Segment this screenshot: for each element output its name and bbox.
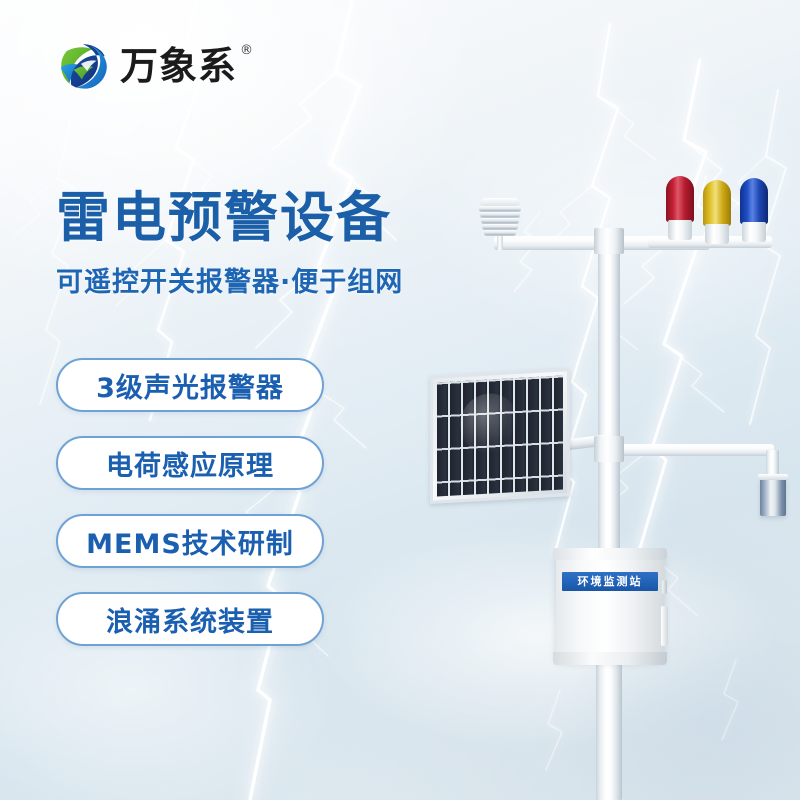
feature-pill-2: 电荷感应原理 bbox=[56, 436, 324, 490]
page-title: 雷电预警设备 bbox=[56, 190, 476, 246]
mast-collar-upper bbox=[594, 228, 624, 254]
shield-plate bbox=[479, 206, 521, 211]
alarm-beacon-yellow bbox=[703, 180, 731, 240]
mast-collar-lower bbox=[594, 436, 624, 462]
shield-plate bbox=[481, 218, 519, 223]
right-sensor-cap bbox=[758, 474, 788, 480]
upper-crossarm bbox=[494, 236, 710, 250]
headline-block: 雷电预警设备 可遥控开关报警器·便于组网 bbox=[56, 190, 476, 299]
mast-pole-lower bbox=[596, 636, 622, 800]
monitor-box-lid bbox=[553, 548, 667, 560]
sky-haze-blob bbox=[430, 90, 800, 350]
feature-list: 3级声光报警器 电荷感应原理 MEMS技术研制 浪涌系统装置 bbox=[56, 358, 324, 646]
beacon-base-blue bbox=[742, 222, 766, 242]
shield-plate bbox=[480, 212, 520, 217]
monitor-box-label: 环境监测站 bbox=[562, 572, 658, 591]
beacon-dome-red bbox=[666, 176, 694, 222]
sky-haze-blob bbox=[560, 620, 800, 800]
solar-panel-arm bbox=[560, 434, 613, 451]
feature-pill-4: 浪涌系统装置 bbox=[56, 592, 324, 646]
solar-panel-glare bbox=[460, 392, 518, 455]
solar-panel bbox=[430, 368, 570, 504]
feature-pill-label: MEMS技术研制 bbox=[86, 522, 294, 561]
monitor-box-bracket bbox=[560, 612, 616, 623]
beacon-base-red bbox=[668, 220, 692, 240]
product-poster: 环境监测站 bbox=[0, 0, 800, 800]
sky-haze-blob bbox=[300, 520, 780, 750]
beacon-dome-blue bbox=[740, 178, 768, 224]
page-subtitle: 可遥控开关报警器·便于组网 bbox=[56, 260, 476, 299]
monitor-box-latch bbox=[662, 580, 667, 594]
alarm-beacon-blue bbox=[740, 178, 768, 240]
environment-monitor-box: 环境监测站 bbox=[556, 552, 664, 660]
shield-plate bbox=[482, 224, 518, 229]
feature-pill-label: 浪涌系统装置 bbox=[106, 600, 274, 639]
brand-header: 万象系 ® bbox=[58, 40, 237, 92]
feature-pill-label: 电荷感应原理 bbox=[106, 444, 274, 483]
shield-plate bbox=[484, 230, 516, 235]
registered-trademark-icon: ® bbox=[240, 44, 254, 57]
shield-cap bbox=[480, 198, 520, 206]
beacon-mount-shelf bbox=[648, 236, 772, 248]
radiation-shield-sensor bbox=[478, 198, 522, 250]
mast-pole-upper bbox=[598, 240, 620, 640]
feature-pill-1: 3级声光报警器 bbox=[56, 358, 324, 412]
globe-swirl-logo-icon bbox=[58, 40, 110, 92]
shield-stem bbox=[497, 236, 503, 250]
alarm-beacon-red bbox=[666, 176, 694, 240]
brand-name: 万象系 ® bbox=[120, 47, 237, 85]
monitor-box-hinge bbox=[661, 606, 668, 646]
feature-pill-label: 3级声光报警器 bbox=[96, 366, 284, 405]
brand-name-text: 万象系 bbox=[120, 44, 237, 88]
right-sensor-dropper bbox=[766, 450, 779, 486]
right-side-sensor bbox=[760, 478, 786, 516]
solar-cells bbox=[437, 375, 563, 496]
lower-crossarm bbox=[614, 444, 774, 456]
monitor-box-foot bbox=[553, 652, 667, 665]
feature-pill-3: MEMS技术研制 bbox=[56, 514, 324, 568]
beacon-base-yellow bbox=[705, 224, 729, 244]
beacon-dome-yellow bbox=[703, 180, 731, 226]
